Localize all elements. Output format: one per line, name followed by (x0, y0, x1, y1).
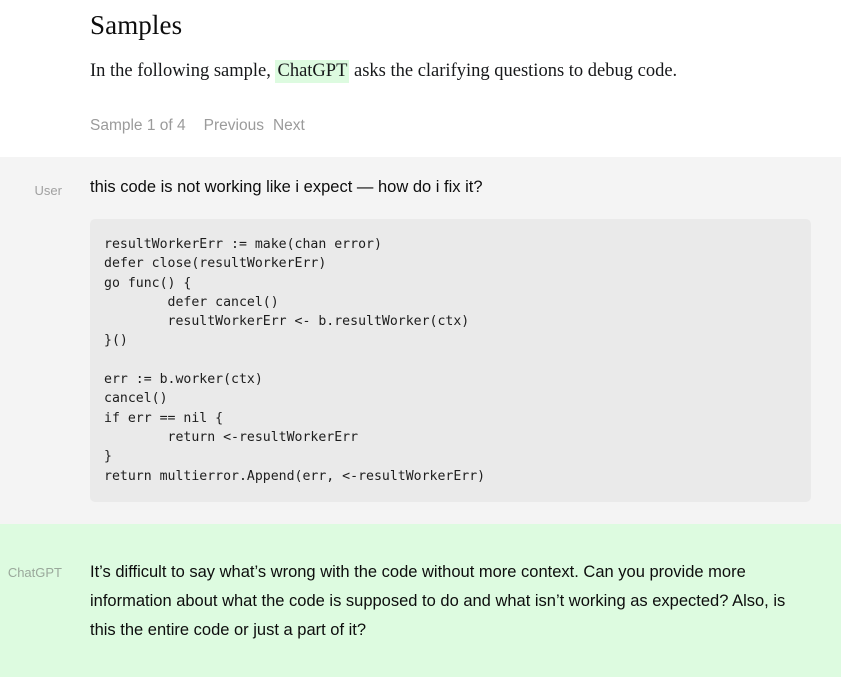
intro-text-after: asks the clarifying questions to debug c… (349, 61, 677, 81)
header-band: Samples In the following sample, ChatGPT… (0, 0, 841, 157)
samples-page: Samples In the following sample, ChatGPT… (0, 0, 841, 677)
assistant-message-text: It’s difficult to say what’s wrong with … (90, 558, 811, 645)
assistant-message-content: It’s difficult to say what’s wrong with … (62, 558, 841, 645)
previous-sample-link[interactable]: Previous (204, 115, 264, 137)
user-role-label: User (0, 176, 62, 201)
intro-text-before: In the following sample, (90, 61, 275, 81)
sample-counter: Sample 1 of 4 (90, 115, 186, 137)
assistant-message-band: ChatGPT It’s difficult to say what’s wro… (0, 524, 841, 677)
code-block: resultWorkerErr := make(chan error) defe… (90, 219, 811, 502)
page-title: Samples (90, 8, 182, 42)
intro-highlight-chatgpt: ChatGPT (275, 60, 349, 83)
assistant-role-label: ChatGPT (0, 558, 62, 583)
next-sample-link[interactable]: Next (273, 115, 305, 137)
user-message-content: this code is not working like i expect —… (62, 176, 841, 502)
code-block-content: resultWorkerErr := make(chan error) defe… (104, 235, 797, 486)
sample-navigation: Sample 1 of 4 Previous Next (90, 115, 305, 137)
user-message-text: this code is not working like i expect —… (90, 176, 811, 199)
intro-paragraph: In the following sample, ChatGPT asks th… (90, 58, 677, 84)
user-message-band: User this code is not working like i exp… (0, 157, 841, 524)
